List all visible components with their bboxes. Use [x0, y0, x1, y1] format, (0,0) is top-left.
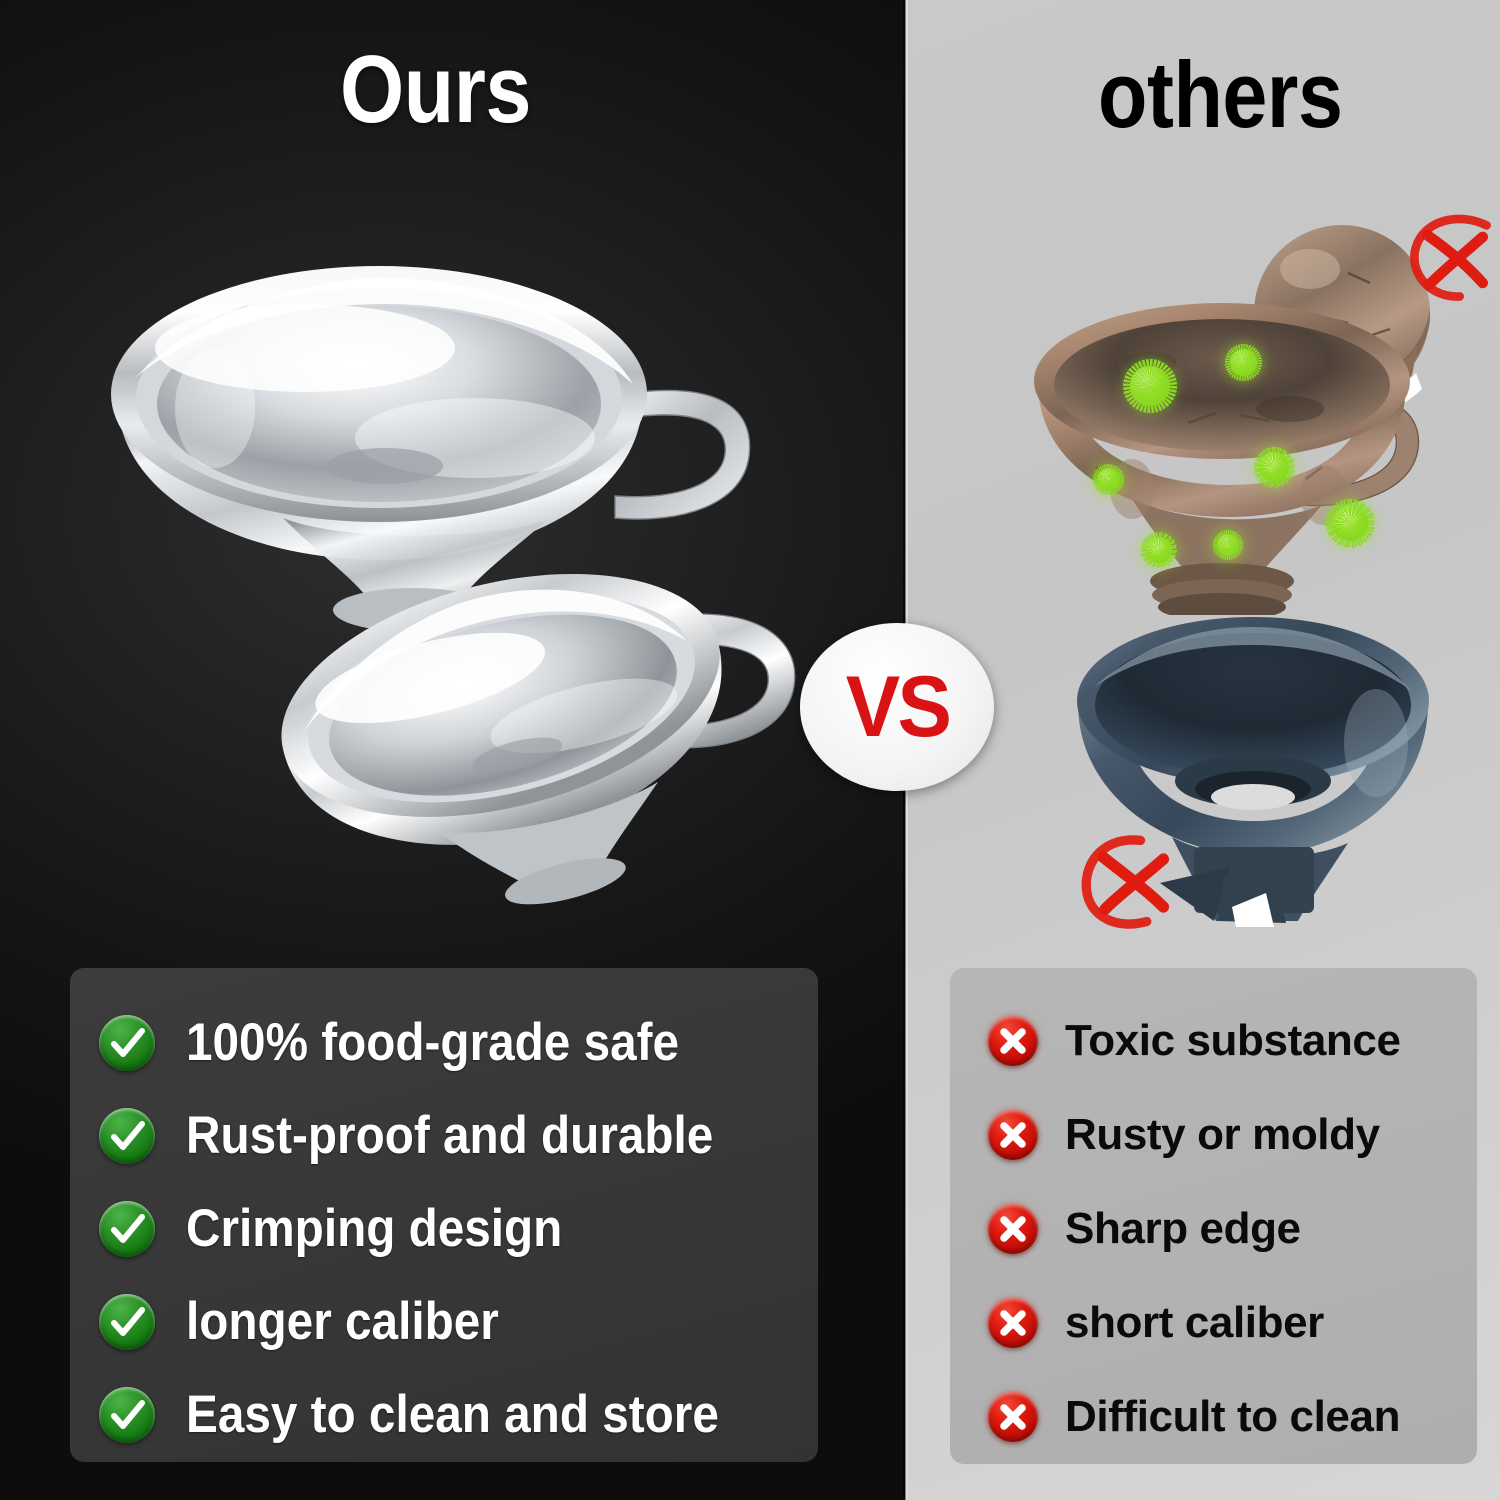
x-circle-icon: [988, 1298, 1038, 1348]
feature-row-ours-4: Easy to clean and store: [70, 1368, 818, 1461]
feature-label: Toxic substance: [1065, 1019, 1401, 1063]
feature-row-ours-2: Crimping design: [70, 1182, 818, 1275]
feature-label: 100% food-grade safe: [186, 1016, 679, 1069]
feature-row-others-4: Difficult to clean: [950, 1370, 1477, 1464]
check-circle-icon: [99, 1387, 155, 1443]
feature-row-others-3: short caliber: [950, 1276, 1477, 1370]
comparison-infographic: Ours others: [0, 0, 1500, 1500]
feature-label: Rusty or moldy: [1065, 1113, 1380, 1157]
check-circle-icon: [99, 1108, 155, 1164]
x-circle-icon: [988, 1392, 1038, 1442]
x-circle-icon: [988, 1016, 1038, 1066]
ours-title: Ours: [340, 42, 531, 138]
x-circle-icon: [988, 1204, 1038, 1254]
feature-label: Difficult to clean: [1065, 1395, 1400, 1439]
feature-label: Rust-proof and durable: [186, 1109, 713, 1162]
others-title: others: [1098, 48, 1342, 142]
feature-row-others-0: Toxic substance: [950, 994, 1477, 1088]
x-circle-icon: [988, 1110, 1038, 1160]
vs-label: VS: [845, 664, 948, 750]
others-feature-list: Toxic substance Rusty or moldy Sharp edg…: [950, 968, 1477, 1464]
feature-row-ours-3: longer caliber: [70, 1275, 818, 1368]
feature-label: Crimping design: [186, 1202, 562, 1255]
check-circle-icon: [99, 1294, 155, 1350]
check-circle-icon: [99, 1015, 155, 1071]
feature-label: short caliber: [1065, 1301, 1324, 1345]
feature-label: longer caliber: [186, 1295, 499, 1348]
check-circle-icon: [99, 1201, 155, 1257]
feature-row-others-1: Rusty or moldy: [950, 1088, 1477, 1182]
feature-label: Easy to clean and store: [186, 1388, 719, 1441]
feature-row-others-2: Sharp edge: [950, 1182, 1477, 1276]
ours-feature-list: 100% food-grade safe Rust-proof and dura…: [70, 968, 818, 1462]
feature-row-ours-0: 100% food-grade safe: [70, 996, 818, 1089]
vs-badge: VS: [800, 623, 994, 791]
feature-row-ours-1: Rust-proof and durable: [70, 1089, 818, 1182]
feature-label: Sharp edge: [1065, 1207, 1301, 1251]
